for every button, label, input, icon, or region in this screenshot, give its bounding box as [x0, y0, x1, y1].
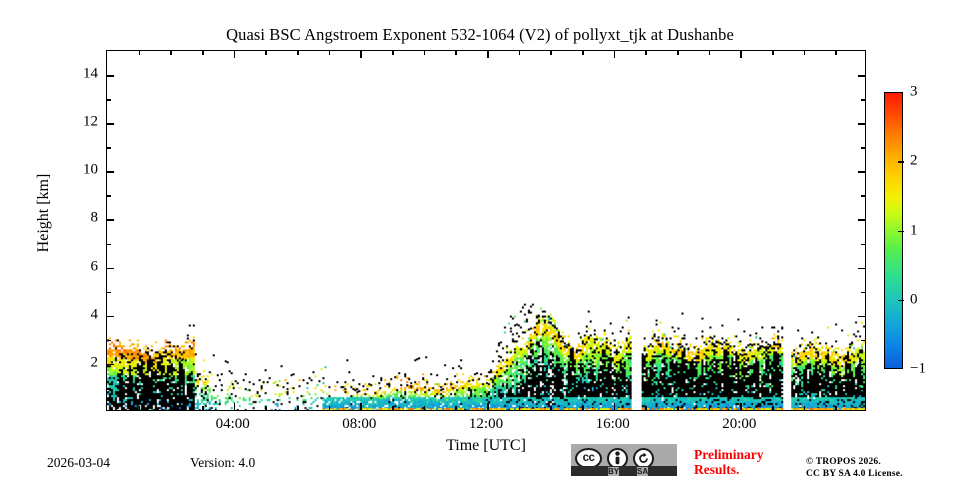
x-tick-top	[139, 51, 141, 55]
x-tick	[645, 406, 647, 410]
x-tick-top	[519, 51, 521, 55]
x-tick-top	[202, 51, 204, 55]
colorbar-tick	[898, 231, 904, 233]
colorbar-tick-label: 1	[910, 222, 918, 239]
y-tick	[107, 316, 114, 318]
x-tick-label: 04:00	[216, 416, 250, 433]
y-tick	[107, 340, 111, 342]
preliminary-line-1: Preliminary	[694, 448, 763, 463]
colorbar-tick-label: −1	[910, 361, 926, 378]
x-tick	[582, 406, 584, 410]
y-tick-label: 14	[83, 66, 98, 83]
x-tick-top	[804, 51, 806, 55]
x-tick	[772, 406, 774, 410]
copyright-line-2: CC BY SA 4.0 License.	[806, 469, 903, 481]
x-tick-label: 08:00	[342, 416, 376, 433]
y-tick	[107, 75, 114, 77]
y-tick	[107, 99, 111, 101]
x-tick-top	[455, 51, 457, 55]
x-tick-top	[234, 51, 236, 58]
y-tick-right	[861, 147, 865, 149]
x-tick-top	[170, 51, 172, 55]
x-tick	[835, 406, 837, 410]
y-tick	[107, 244, 111, 246]
y-tick-right	[858, 316, 865, 318]
preliminary-results-notice: Preliminary Results.	[694, 448, 763, 477]
x-tick	[677, 406, 679, 410]
colorbar-tick-label: 2	[910, 153, 918, 170]
x-tick	[424, 406, 426, 410]
y-tick-right	[861, 195, 865, 197]
x-tick-top	[709, 51, 711, 55]
cc-by-label: BY	[608, 467, 619, 476]
copyright-notice: © TROPOS 2026. CC BY SA 4.0 License.	[806, 457, 903, 481]
x-tick-label: 16:00	[596, 416, 630, 433]
colorbar-tick	[898, 161, 904, 163]
x-tick-top	[265, 51, 267, 55]
y-tick-right	[861, 340, 865, 342]
x-tick-top	[392, 51, 394, 55]
x-tick	[519, 406, 521, 410]
y-tick	[107, 219, 114, 221]
x-tick	[234, 403, 236, 410]
x-tick	[804, 406, 806, 410]
x-tick-top	[550, 51, 552, 55]
y-tick-right	[858, 123, 865, 125]
x-tick	[487, 403, 489, 410]
footer-date: 2026-03-04	[47, 455, 110, 471]
x-tick-top	[677, 51, 679, 55]
y-tick	[107, 388, 111, 390]
cc-license-badge[interactable]: cc BY SA	[571, 444, 677, 476]
colorbar-tick-label: 3	[910, 84, 918, 101]
x-tick-top	[360, 51, 362, 58]
x-tick-top	[582, 51, 584, 55]
y-tick-label: 8	[91, 210, 99, 227]
footer-version: Version: 4.0	[190, 455, 255, 471]
y-tick-label: 10	[83, 162, 98, 179]
y-tick-right	[858, 268, 865, 270]
x-tick	[392, 406, 394, 410]
y-tick-right	[858, 75, 865, 77]
x-tick	[614, 403, 616, 410]
x-tick-top	[835, 51, 837, 55]
x-tick	[709, 406, 711, 410]
y-tick-right	[861, 388, 865, 390]
x-tick	[329, 406, 331, 410]
preliminary-line-2: Results.	[694, 463, 763, 478]
x-tick-top	[424, 51, 426, 55]
y-axis-label: Height [km]	[35, 133, 53, 293]
colorbar-tick-label: 0	[910, 291, 918, 308]
y-tick	[107, 195, 111, 197]
plot-axes	[106, 50, 866, 411]
x-tick-top	[297, 51, 299, 55]
y-tick-right	[861, 292, 865, 294]
y-tick	[107, 268, 114, 270]
x-tick-label: 20:00	[722, 416, 756, 433]
x-tick	[455, 406, 457, 410]
colorbar	[884, 92, 903, 369]
cc-sa-label: SA	[637, 467, 648, 476]
y-tick-right	[858, 219, 865, 221]
person-glyph	[612, 451, 623, 465]
y-tick-right	[861, 244, 865, 246]
x-tick-top	[772, 51, 774, 55]
y-tick-right	[858, 171, 865, 173]
x-tick	[740, 403, 742, 410]
y-tick	[107, 123, 114, 125]
y-tick-label: 2	[91, 354, 99, 371]
x-tick-top	[614, 51, 616, 58]
x-tick-top	[487, 51, 489, 58]
y-tick-right	[858, 364, 865, 366]
y-tick	[107, 364, 114, 366]
x-tick	[202, 406, 204, 410]
y-tick-right	[861, 99, 865, 101]
x-tick-top	[740, 51, 742, 58]
x-tick	[360, 403, 362, 410]
heatmap-data-area	[107, 51, 865, 410]
y-tick-label: 4	[91, 306, 99, 323]
cc-badge-label-bar	[571, 466, 677, 476]
colorbar-tick	[898, 300, 904, 302]
x-tick	[297, 406, 299, 410]
x-tick	[265, 406, 267, 410]
y-tick	[107, 147, 111, 149]
copyright-line-1: © TROPOS 2026.	[806, 457, 903, 469]
y-tick-label: 12	[83, 114, 98, 131]
y-tick	[107, 292, 111, 294]
y-tick-label: 6	[91, 258, 99, 275]
x-tick-top	[329, 51, 331, 55]
x-tick	[170, 406, 172, 410]
y-tick	[107, 171, 114, 173]
x-tick	[139, 406, 141, 410]
x-tick-top	[645, 51, 647, 55]
share-alike-glyph	[637, 452, 650, 465]
x-tick-label: 12:00	[469, 416, 503, 433]
x-tick	[550, 406, 552, 410]
page-title: Quasi BSC Angstroem Exponent 532-1064 (V…	[0, 25, 960, 45]
